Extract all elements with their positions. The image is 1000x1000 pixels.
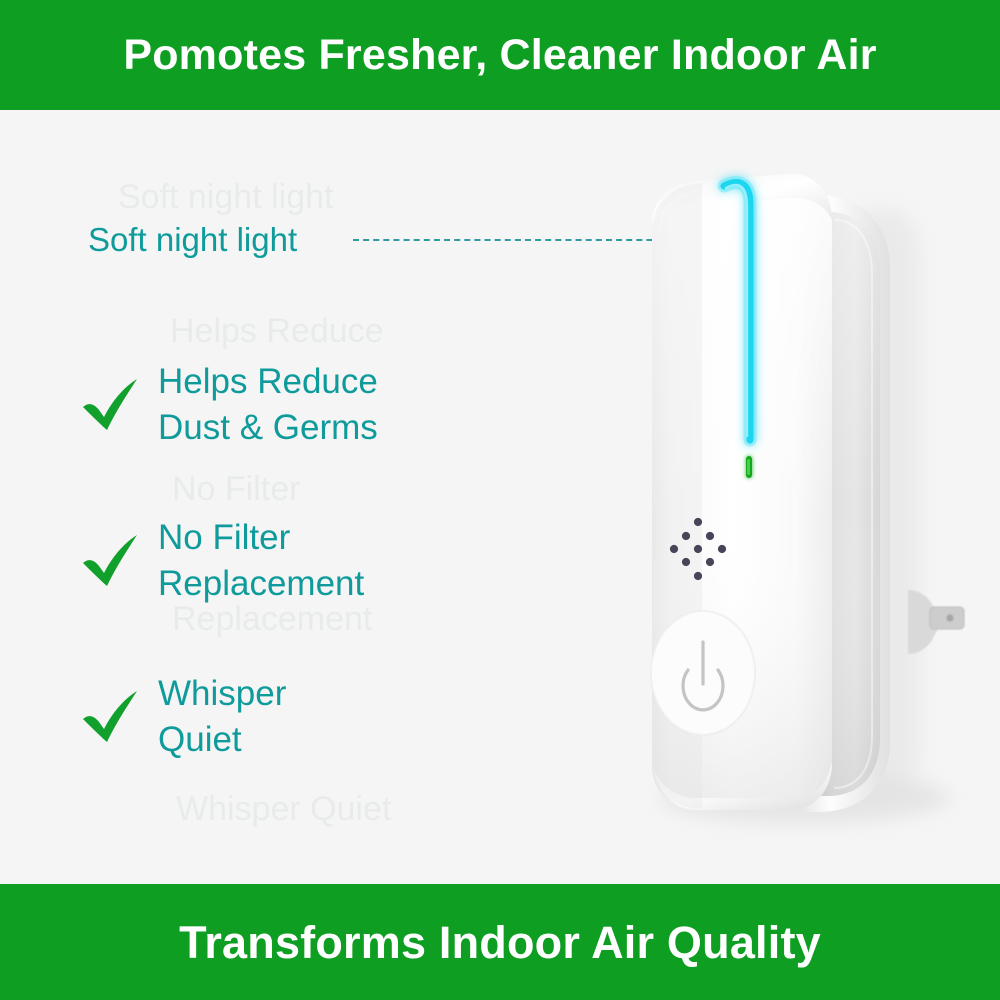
feature-label-line2: Quiet — [158, 717, 286, 763]
check-icon — [78, 533, 144, 589]
feature-label: Helps Reduce Dust & Germs — [158, 359, 378, 451]
check-icon — [78, 377, 144, 433]
callout-label-soft-night-light: Soft night light — [88, 222, 297, 258]
product-image-air-purifier — [590, 150, 990, 850]
status-led — [746, 456, 752, 478]
feature-label-line2: Replacement — [158, 561, 364, 607]
feature-item: Whisper Quiet — [78, 657, 508, 777]
bottom-banner-text: Transforms Indoor Air Quality — [179, 920, 821, 965]
bottom-banner: Transforms Indoor Air Quality — [0, 884, 1000, 1000]
feature-label-line2: Dust & Germs — [158, 405, 378, 451]
check-icon — [78, 689, 144, 745]
feature-label-line1: Helps Reduce — [158, 359, 378, 405]
feature-item: Helps Reduce Dust & Germs — [78, 345, 508, 465]
ghost-text: Soft night light — [118, 178, 333, 217]
top-banner-text: Pomotes Fresher, Cleaner Indoor Air — [123, 34, 876, 77]
power-button — [651, 611, 755, 735]
feature-label-line1: Whisper — [158, 671, 286, 717]
feature-label-line1: No Filter — [158, 515, 364, 561]
product-infographic: Pomotes Fresher, Cleaner Indoor Air Soft… — [0, 0, 1000, 1000]
feature-item: No Filter Replacement — [78, 501, 508, 621]
top-banner: Pomotes Fresher, Cleaner Indoor Air — [0, 0, 1000, 110]
feature-label: No Filter Replacement — [158, 515, 364, 607]
feature-label: Whisper Quiet — [158, 671, 286, 763]
feature-list: Helps Reduce Dust & Germs No Filter Repl… — [78, 345, 508, 813]
wall-plug-prong — [908, 590, 964, 654]
